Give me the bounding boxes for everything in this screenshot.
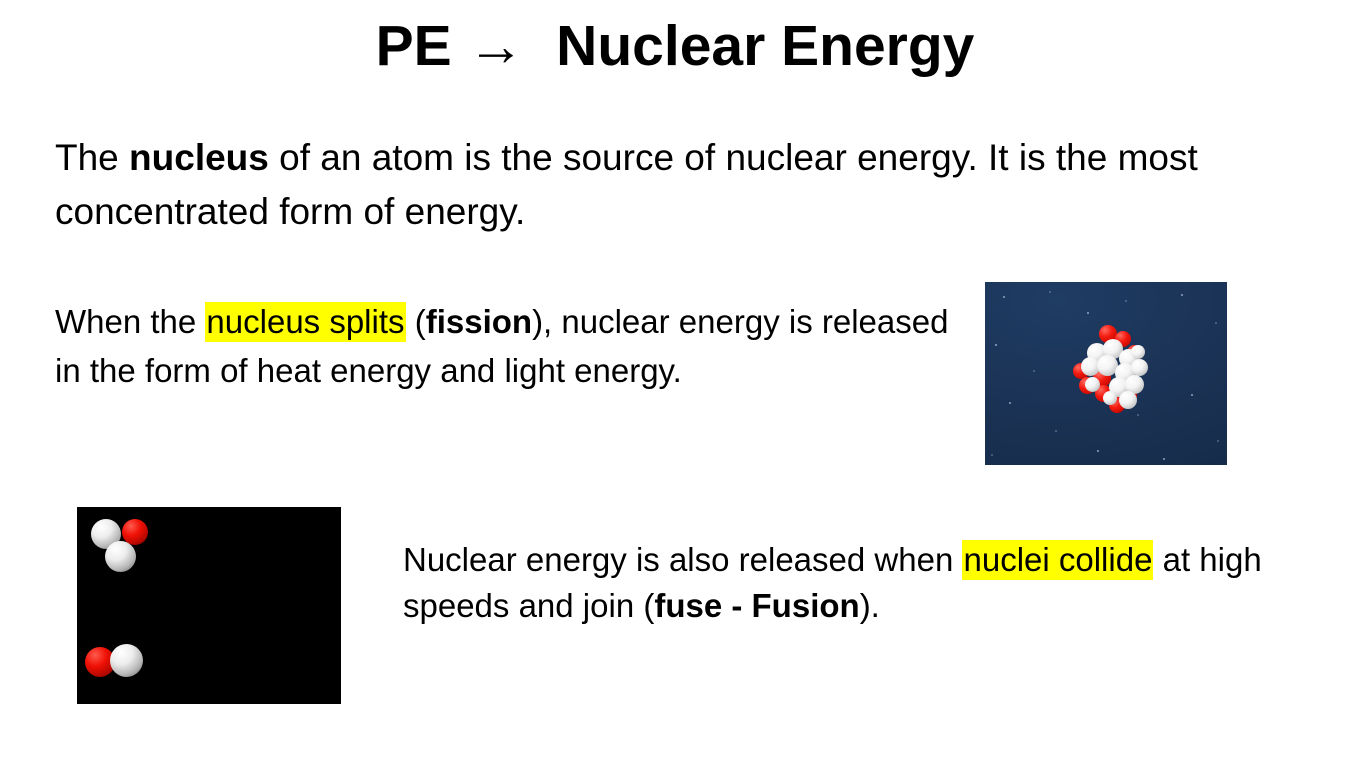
star-dot — [1009, 402, 1011, 404]
nucleon-white — [105, 541, 136, 572]
paragraph-fusion: Nuclear energy is also released when nuc… — [403, 537, 1303, 629]
fission-text-part-1: When the — [55, 303, 205, 340]
nucleon-white — [1085, 377, 1100, 392]
star-dot — [1087, 312, 1089, 314]
star-dot — [1217, 440, 1219, 442]
star-dot — [1097, 450, 1099, 452]
star-dot — [1003, 296, 1005, 298]
star-dot — [995, 344, 997, 346]
page-title: PE → Nuclear Energy — [0, 12, 1350, 80]
star-dot — [1163, 458, 1165, 460]
star-dot — [1137, 414, 1139, 416]
star-dot — [1125, 300, 1127, 302]
intro-text-part-1: The — [55, 137, 129, 178]
star-dot — [1033, 370, 1035, 372]
nucleon-white — [110, 644, 143, 677]
fusion-keyword-fuse-fusion: fuse - Fusion — [654, 587, 859, 624]
fusion-text-part-1: Nuclear energy is also released when — [403, 541, 962, 578]
fission-highlight-nucleus-splits: nucleus splits — [205, 302, 405, 342]
star-dot — [1055, 430, 1057, 432]
paragraph-fission: When the nucleus splits (fission), nucle… — [55, 297, 955, 395]
intro-keyword-nucleus: nucleus — [129, 137, 269, 178]
fusion-text-part-5: ). — [860, 587, 880, 624]
star-dot — [1215, 322, 1217, 324]
fission-keyword-fission: fission — [426, 303, 532, 340]
nucleon-white — [1103, 391, 1117, 405]
fission-nucleus-image — [985, 282, 1227, 465]
nucleus-sphere-cluster — [1073, 325, 1149, 413]
star-dot — [991, 454, 993, 456]
star-dot — [1191, 394, 1193, 396]
paragraph-intro: The nucleus of an atom is the source of … — [55, 131, 1285, 239]
fusion-nuclei-image — [77, 507, 341, 704]
star-dot — [1049, 291, 1051, 293]
star-dot — [1181, 294, 1183, 296]
fusion-highlight-nuclei-collide: nuclei collide — [962, 540, 1153, 580]
nucleon-white — [1119, 391, 1137, 409]
nucleon-white — [1131, 345, 1145, 359]
nucleon-white — [1131, 359, 1148, 376]
fission-text-part-3: ( — [406, 303, 426, 340]
